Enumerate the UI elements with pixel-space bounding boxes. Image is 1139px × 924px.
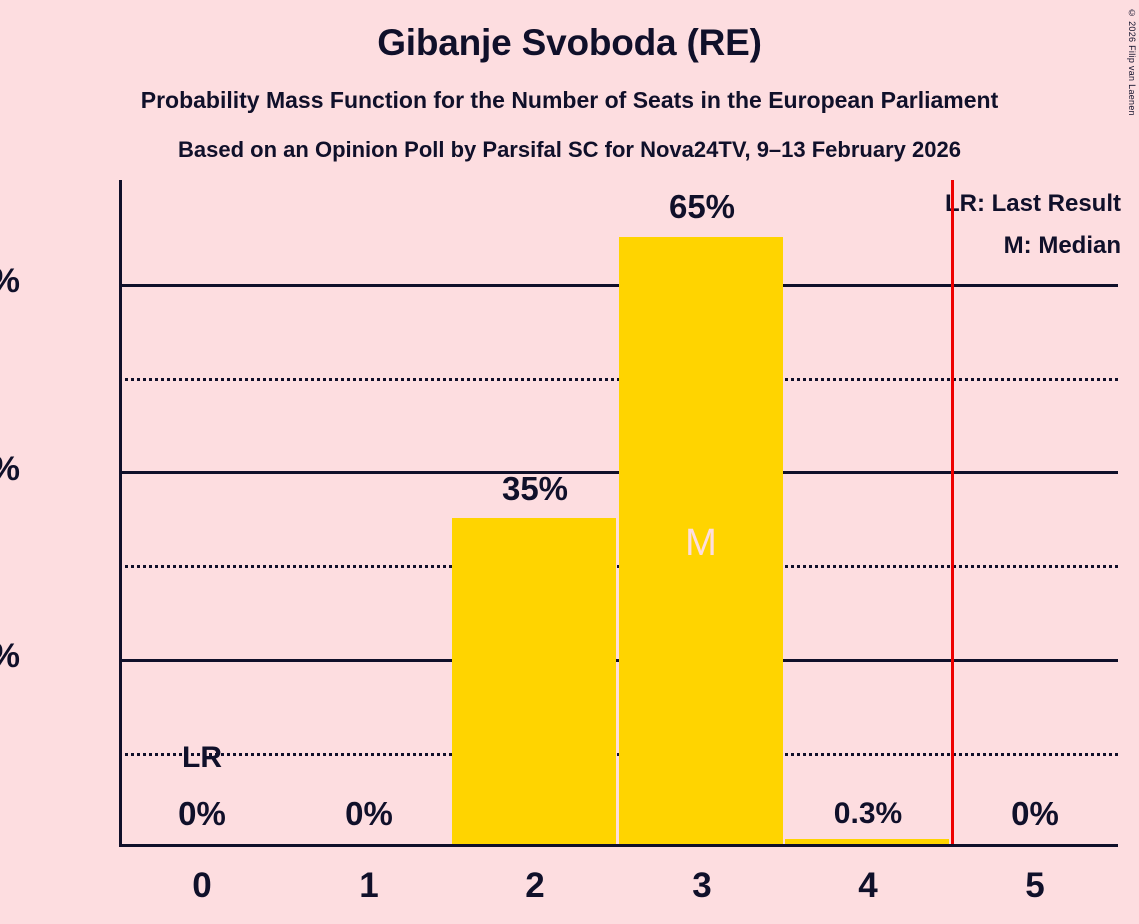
chart-subtitle: Probability Mass Function for the Number… — [0, 87, 1139, 114]
value-label-seats-4: 0.3% — [790, 797, 946, 831]
bar-seats-3[interactable] — [619, 237, 783, 844]
value-label-seats-1: 0% — [299, 795, 439, 833]
y-axis-tick-60: 60% — [0, 262, 20, 301]
x-axis-tick-3: 3 — [632, 866, 772, 906]
x-axis-tick-2: 2 — [465, 866, 605, 906]
value-label-seats-0: 0% — [132, 795, 272, 833]
chart-source-note: Based on an Opinion Poll by Parsifal SC … — [0, 137, 1139, 163]
page-title: Gibanje Svoboda (RE) — [0, 22, 1139, 64]
y-axis-line — [119, 180, 122, 847]
chart-page: © 2026 Filip van Laenen Gibanje Svoboda … — [0, 0, 1139, 924]
x-axis-tick-0: 0 — [132, 866, 272, 906]
y-axis-tick-40: 40% — [0, 450, 20, 489]
value-label-seats-5: 0% — [965, 795, 1105, 833]
value-label-seats-3: 65% — [632, 188, 772, 226]
last-result-marker: LR — [132, 741, 272, 775]
x-axis-tick-4: 4 — [798, 866, 938, 906]
x-axis-line — [119, 844, 1118, 847]
value-label-seats-2: 35% — [465, 470, 605, 508]
threshold-line — [951, 180, 954, 847]
x-axis-tick-1: 1 — [299, 866, 439, 906]
y-axis-tick-20: 20% — [0, 637, 20, 676]
x-axis-tick-5: 5 — [965, 866, 1105, 906]
bar-seats-2[interactable] — [452, 518, 616, 844]
